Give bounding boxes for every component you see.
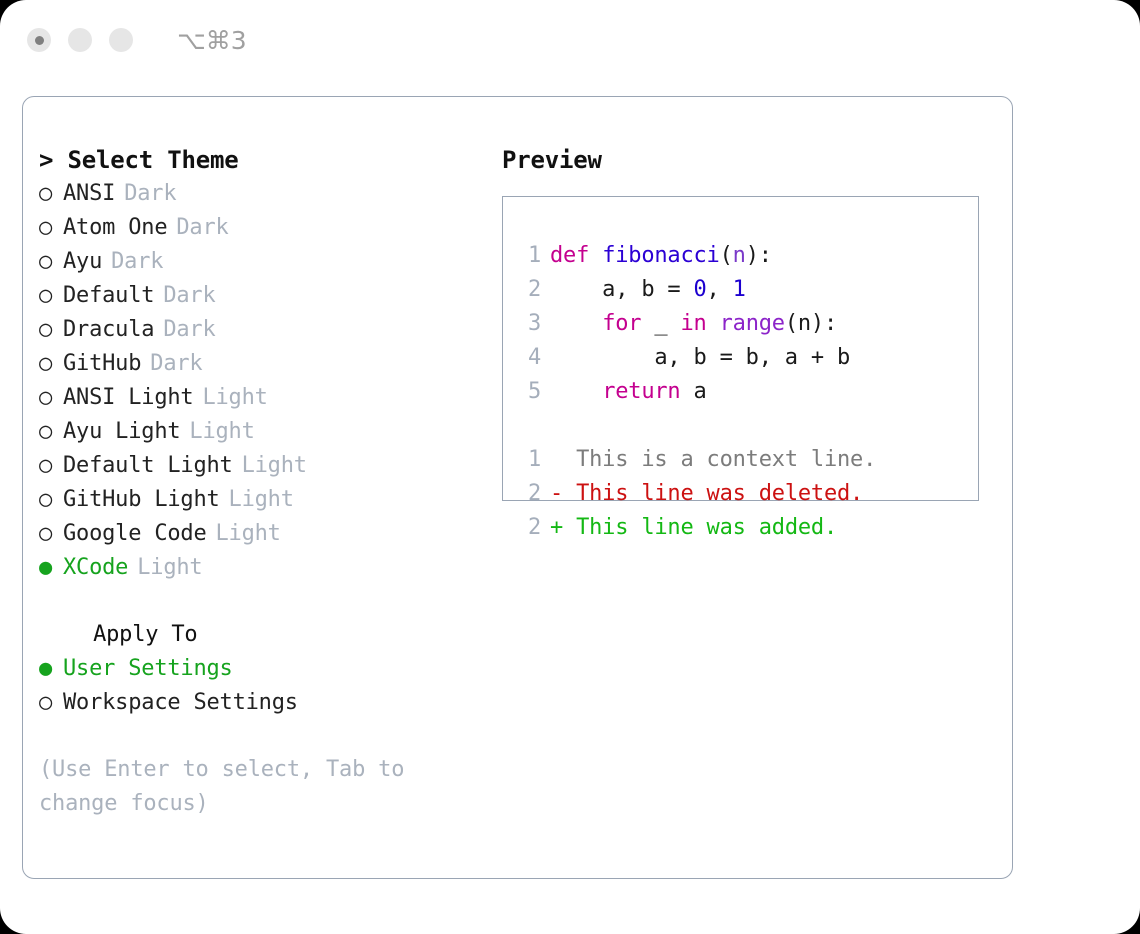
theme-option-variant: Dark <box>163 313 215 347</box>
code-line: 2 a, b = 0, 1 <box>517 273 876 307</box>
theme-option-variant: Dark <box>163 279 215 313</box>
theme-option-label: GitHub <box>63 347 141 381</box>
theme-list-column: > Select Theme ○ANSIDark○Atom OneDark○Ay… <box>39 143 459 821</box>
theme-option-label: GitHub Light <box>63 483 220 517</box>
preview-title: Preview <box>502 143 1002 177</box>
theme-option-label: XCode <box>63 551 128 585</box>
theme-option-ayu-light[interactable]: ○Ayu LightLight <box>39 415 459 449</box>
code-blank-line <box>517 409 876 443</box>
code-token: return <box>602 379 680 404</box>
theme-option-variant: Light <box>229 483 294 517</box>
radio-unselected-icon: ○ <box>39 381 63 415</box>
apply-to-option-workspace-settings[interactable]: ○Workspace Settings <box>39 686 459 720</box>
code-token: range <box>720 311 785 336</box>
code-token: 0 <box>694 277 707 302</box>
diff-line-number: 2 <box>517 477 541 511</box>
record-indicator-icon <box>35 36 44 45</box>
code-token: ( <box>720 243 733 268</box>
preview-box: 1def fibonacci(n):2 a, b = 0, 13 for _ i… <box>502 196 979 501</box>
window-titlebar: ⌥⌘3 <box>0 0 1140 80</box>
theme-list-header: > Select Theme <box>39 143 459 177</box>
code-token <box>550 379 602 404</box>
code-token: ): <box>746 243 772 268</box>
theme-option-variant: Light <box>216 517 281 551</box>
radio-unselected-icon: ○ <box>39 347 63 381</box>
code-token: def <box>550 243 602 268</box>
apply-to-option-label: Workspace Settings <box>63 686 298 720</box>
theme-option-label: ANSI <box>63 177 115 211</box>
theme-option-label: Ayu <box>63 245 102 279</box>
radio-unselected-icon: ○ <box>39 313 63 347</box>
code-token <box>550 311 602 336</box>
code-token: n <box>733 243 746 268</box>
code-token: for <box>602 311 641 336</box>
theme-option-label: Ayu Light <box>63 415 180 449</box>
code-line-content: a, b = 0, 1 <box>550 273 746 307</box>
radio-selected-icon: ● <box>39 551 63 585</box>
code-token: a, b = b, a + b <box>550 345 850 370</box>
theme-option-github[interactable]: ○GitHubDark <box>39 347 459 381</box>
radio-unselected-icon: ○ <box>39 177 63 211</box>
code-line: 1def fibonacci(n): <box>517 239 876 273</box>
code-token: a <box>680 379 706 404</box>
theme-option-label: Default Light <box>63 449 233 483</box>
diff-line: 2- This line was deleted. <box>517 477 876 511</box>
theme-option-variant: Dark <box>124 177 176 211</box>
keyboard-shortcut-label: ⌥⌘3 <box>177 26 247 55</box>
theme-option-dracula[interactable]: ○DraculaDark <box>39 313 459 347</box>
diff-line-number: 2 <box>517 511 541 545</box>
radio-unselected-icon: ○ <box>39 279 63 313</box>
code-line-number: 4 <box>517 341 541 375</box>
theme-list: ○ANSIDark○Atom OneDark○AyuDark○DefaultDa… <box>39 177 459 585</box>
code-token: (n): <box>785 311 837 336</box>
code-token: in <box>680 311 706 336</box>
window-dot-active[interactable] <box>27 28 51 52</box>
code-token: , <box>707 277 733 302</box>
keyboard-hint-text: (Use Enter to select, Tab to change focu… <box>39 753 439 821</box>
app-window: ⌥⌘3 > Select Theme ○ANSIDark○Atom OneDar… <box>0 0 1140 934</box>
code-token: a, b = <box>550 277 694 302</box>
code-token: 1 <box>733 277 746 302</box>
code-line-number: 5 <box>517 375 541 409</box>
code-line-content: return a <box>550 375 707 409</box>
window-dot-3[interactable] <box>109 28 133 52</box>
diff-line-text: This line was deleted. <box>563 477 863 511</box>
window-dot-2[interactable] <box>68 28 92 52</box>
theme-option-label: Atom One <box>63 211 167 245</box>
radio-selected-icon: ● <box>39 652 63 686</box>
diff-line: 2+ This line was added. <box>517 511 876 545</box>
theme-option-default-light[interactable]: ○Default LightLight <box>39 449 459 483</box>
theme-picker-panel: > Select Theme ○ANSIDark○Atom OneDark○Ay… <box>22 96 1013 879</box>
theme-option-label: Dracula <box>63 313 154 347</box>
code-line-content: for _ in range(n): <box>550 307 837 341</box>
code-line-content: a, b = b, a + b <box>550 341 850 375</box>
theme-option-variant: Light <box>242 449 307 483</box>
theme-option-github-light[interactable]: ○GitHub LightLight <box>39 483 459 517</box>
theme-option-label: Google Code <box>63 517 207 551</box>
theme-option-variant: Light <box>202 381 267 415</box>
code-line: 3 for _ in range(n): <box>517 307 876 341</box>
code-preview-area: 1def fibonacci(n):2 a, b = 0, 13 for _ i… <box>517 239 876 545</box>
code-token: fibonacci <box>602 243 719 268</box>
preview-column: Preview 1def fibonacci(n):2 a, b = 0, 13… <box>502 143 1002 501</box>
theme-option-variant: Light <box>189 415 254 449</box>
theme-option-variant: Light <box>137 551 202 585</box>
apply-to-option-user-settings[interactable]: ●User Settings <box>39 652 459 686</box>
theme-option-atom-one[interactable]: ○Atom OneDark <box>39 211 459 245</box>
code-line: 4 a, b = b, a + b <box>517 341 876 375</box>
theme-option-label: Default <box>63 279 154 313</box>
theme-option-xcode[interactable]: ●XCodeLight <box>39 551 459 585</box>
apply-to-option-label: User Settings <box>63 652 233 686</box>
radio-unselected-icon: ○ <box>39 483 63 517</box>
diff-marker: - <box>550 477 563 511</box>
theme-option-variant: Dark <box>111 245 163 279</box>
diff-line-text: This is a context line. <box>563 443 876 477</box>
theme-option-ansi-light[interactable]: ○ANSI LightLight <box>39 381 459 415</box>
radio-unselected-icon: ○ <box>39 245 63 279</box>
radio-unselected-icon: ○ <box>39 449 63 483</box>
apply-to-list: ●User Settings○Workspace Settings <box>39 652 459 720</box>
theme-option-ayu[interactable]: ○AyuDark <box>39 245 459 279</box>
apply-to-group: Apply To ●User Settings○Workspace Settin… <box>39 618 459 720</box>
diff-line-number: 1 <box>517 443 541 477</box>
diff-line: 1 This is a context line. <box>517 443 876 477</box>
diff-marker: + <box>550 511 563 545</box>
theme-option-variant: Dark <box>176 211 228 245</box>
code-line-number: 2 <box>517 273 541 307</box>
theme-option-default[interactable]: ○DefaultDark <box>39 279 459 313</box>
radio-unselected-icon: ○ <box>39 211 63 245</box>
code-line-content: def fibonacci(n): <box>550 239 772 273</box>
diff-line-text: This line was added. <box>563 511 837 545</box>
code-token <box>707 311 720 336</box>
code-line: 5 return a <box>517 375 876 409</box>
apply-to-header: Apply To <box>39 618 459 652</box>
code-token: _ <box>641 311 680 336</box>
theme-option-google-code[interactable]: ○Google CodeLight <box>39 517 459 551</box>
theme-option-label: ANSI Light <box>63 381 193 415</box>
radio-unselected-icon: ○ <box>39 686 63 720</box>
diff-marker <box>550 443 563 477</box>
radio-unselected-icon: ○ <box>39 415 63 449</box>
radio-unselected-icon: ○ <box>39 517 63 551</box>
theme-option-ansi[interactable]: ○ANSIDark <box>39 177 459 211</box>
code-line-number: 3 <box>517 307 541 341</box>
theme-option-variant: Dark <box>150 347 202 381</box>
code-line-number: 1 <box>517 239 541 273</box>
